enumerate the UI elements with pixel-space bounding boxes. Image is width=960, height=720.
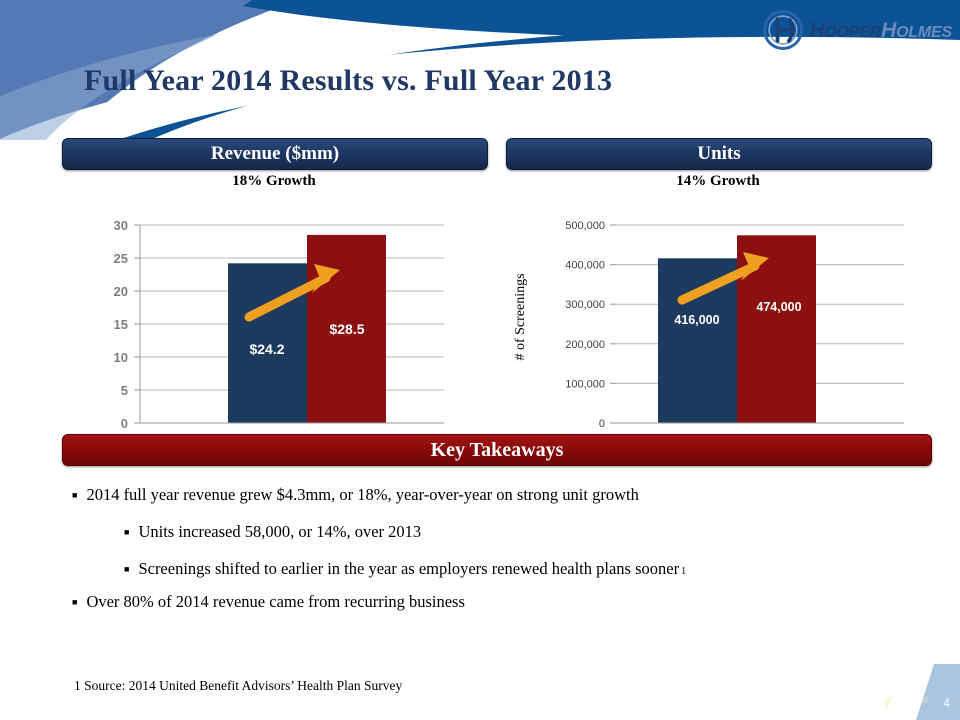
y-tick-label: 400,000	[565, 260, 605, 272]
slide-canvas: HOOPERHOLMES Full Year 2014 Results vs. …	[0, 0, 960, 720]
bar-label-2013: 416,000	[674, 313, 719, 327]
list-item-text: Units increased 58,000, or 14%, over 201…	[138, 523, 421, 542]
bullet-square-icon: ■	[72, 598, 77, 607]
y-tick-label: 20	[114, 284, 128, 299]
y-tick-label: 200,000	[565, 339, 605, 351]
source-footnote: 1 Source: 2014 United Benefit Advisors’ …	[74, 678, 402, 694]
logo-word-2-first: H	[881, 19, 896, 42]
corner-glow-shape	[884, 694, 894, 712]
y-tick-label: 300,000	[565, 299, 605, 311]
bullet-square-icon: ■	[124, 528, 129, 537]
page-number: 4	[943, 697, 950, 709]
logo-word-1-first: H	[809, 19, 824, 42]
section-banner-units: Units	[506, 138, 932, 170]
list-item: ■ Over 80% of 2014 revenue came from rec…	[72, 593, 942, 612]
chart-units: 14% Growth # of Screenings	[506, 170, 930, 432]
corner-blue-shape	[914, 664, 960, 720]
corner-white-shape	[900, 664, 934, 720]
bar-label-2013: $24.2	[249, 341, 284, 357]
y-tick-labels: 500,000 400,000 300,000 200,000 100,000 …	[565, 220, 605, 430]
bar-label-2014: 474,000	[756, 300, 801, 314]
footnote-marker: 1	[681, 566, 686, 578]
y-tick-label: 0	[599, 418, 605, 430]
bullet-square-icon: ■	[124, 565, 129, 574]
y-axis-title: # of Screenings	[513, 273, 528, 360]
list-item-text: Screenings shifted to earlier in the yea…	[138, 560, 679, 579]
bullet-square-icon: ■	[72, 491, 77, 500]
page-number-ghost: 4	[922, 696, 928, 707]
list-item: ■ 2014 full year revenue grew $4.3mm, or…	[72, 486, 942, 505]
chart-revenue-subtitle: 18% Growth	[62, 170, 486, 192]
list-item: ■ Units increased 58,000, or 14%, over 2…	[124, 523, 942, 542]
y-tick-label: 500,000	[565, 220, 605, 232]
chart-units-plot: # of Screenings 500,000 400,000	[506, 192, 930, 432]
page-corner-decoration	[870, 664, 960, 720]
list-item-text: Over 80% of 2014 revenue came from recur…	[86, 593, 464, 612]
brand-logo: HOOPERHOLMES	[762, 8, 952, 52]
y-tick-label: 25	[114, 251, 128, 266]
y-tick-label: 100,000	[565, 378, 605, 390]
bar-label-2014: $28.5	[329, 321, 364, 337]
y-tick-labels: 30 25 20 15 10 5 0	[114, 218, 128, 431]
y-axis-ticks	[610, 225, 616, 423]
y-tick-label: 30	[114, 218, 128, 233]
y-tick-label: 15	[114, 317, 128, 332]
chart-units-subtitle: 14% Growth	[506, 170, 930, 192]
logo-word-1-rest: OOPER	[824, 24, 881, 41]
y-tick-label: 5	[121, 383, 128, 398]
section-banner-key-takeaways: Key Takeaways	[62, 434, 932, 466]
section-banner-revenue: Revenue ($mm)	[62, 138, 488, 170]
chart-revenue: 18% Growth	[62, 170, 486, 432]
list-item: ■ Screenings shifted to earlier in the y…	[124, 560, 942, 579]
y-axis-ticks	[134, 225, 140, 423]
hooper-holmes-h-emblem-icon	[762, 9, 804, 51]
key-takeaways-list: ■ 2014 full year revenue grew $4.3mm, or…	[62, 472, 942, 612]
page-title: Full Year 2014 Results vs. Full Year 201…	[84, 64, 612, 98]
y-tick-label: 10	[114, 350, 128, 365]
chart-revenue-plot: 30 25 20 15 10 5 0 $24.2 $28.5	[62, 192, 486, 432]
logo-wordmark: HOOPERHOLMES	[809, 20, 952, 41]
logo-word-2-rest: OLMES	[896, 24, 952, 41]
list-item-text: 2014 full year revenue grew $4.3mm, or 1…	[86, 486, 638, 505]
y-tick-label: 0	[121, 416, 128, 431]
